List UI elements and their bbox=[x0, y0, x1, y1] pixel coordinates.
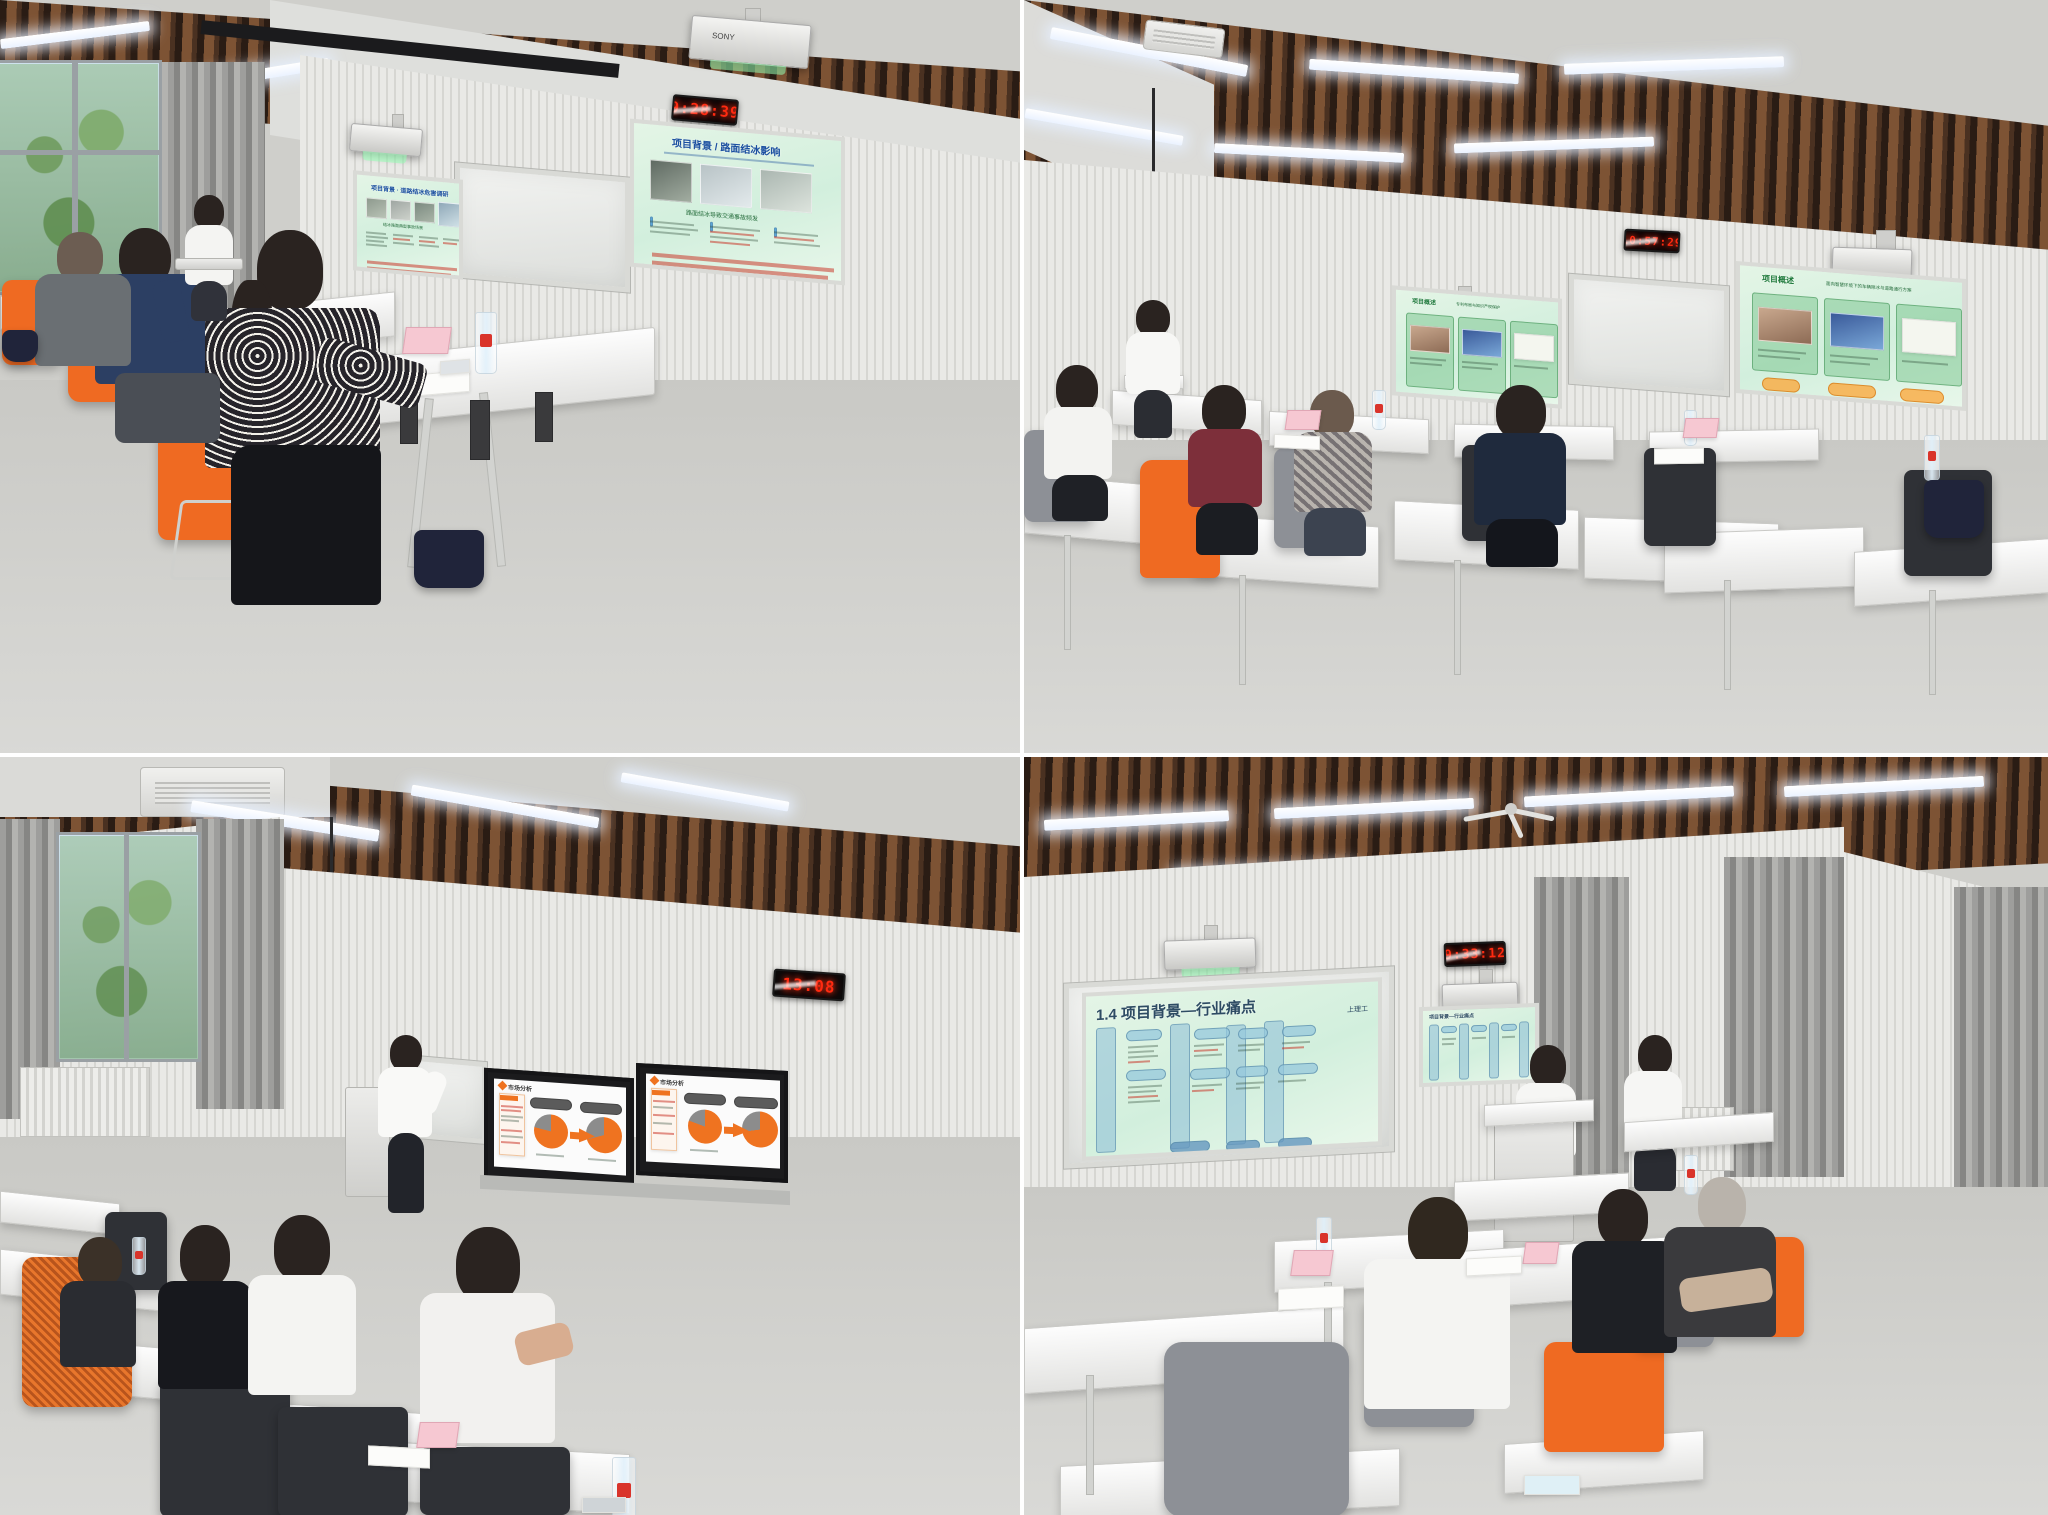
fan-blade bbox=[1463, 809, 1509, 822]
led-clock-br-text: 9:33:12 bbox=[1444, 945, 1506, 962]
paper-bl-1 bbox=[368, 1445, 430, 1468]
panel-bottom-right: 9:33:12 1.4 项目背景—行业痛点 上理工 bbox=[1024, 757, 2048, 1515]
person-torso bbox=[248, 1275, 356, 1395]
slide-pill-br-bottom-2 bbox=[1226, 1140, 1260, 1153]
slide-title-br-side: 项目背景—行业痛点 bbox=[1429, 1012, 1474, 1021]
name-card-br-2 bbox=[1522, 1242, 1559, 1264]
slide-text-line bbox=[1194, 1043, 1224, 1047]
person-legs bbox=[1052, 475, 1108, 521]
person-torso bbox=[60, 1281, 136, 1367]
podium-tl bbox=[175, 258, 243, 270]
person-head bbox=[390, 1035, 422, 1071]
slide-legend-line bbox=[690, 1149, 718, 1152]
led-clock-br: 9:33:12 bbox=[1444, 941, 1507, 967]
slide-text-line bbox=[443, 242, 457, 245]
whiteboard-tr bbox=[1569, 274, 1729, 397]
person-bl-1 bbox=[158, 1225, 254, 1425]
slide-pill-br-4 bbox=[1190, 1067, 1230, 1080]
slide-pill-br-5 bbox=[1238, 1027, 1268, 1040]
person-torso bbox=[1364, 1259, 1510, 1409]
led-clock-bl: 13:08 bbox=[772, 969, 846, 1002]
display-bl-left-slide: 市场分析 bbox=[494, 1078, 626, 1175]
slide-text-line bbox=[1194, 1054, 1222, 1057]
slide-pill-br-7 bbox=[1282, 1025, 1316, 1038]
slide-logo-br: 上理工 bbox=[1347, 1004, 1368, 1015]
slide-text-line bbox=[1282, 1046, 1304, 1049]
person-head bbox=[1202, 385, 1246, 435]
slide-pill-br-1 bbox=[1126, 1029, 1162, 1042]
person-torso bbox=[1474, 433, 1566, 525]
display-bezel-bl-right: 市场分析 bbox=[636, 1063, 788, 1183]
projector-br-1 bbox=[1164, 937, 1257, 970]
person-torso bbox=[420, 1293, 555, 1443]
person-legs bbox=[231, 445, 381, 605]
name-card-tr-2 bbox=[1683, 418, 1720, 438]
slide-text-line bbox=[1236, 1081, 1264, 1084]
name-card-tr-1 bbox=[1285, 410, 1322, 430]
slide-text-line bbox=[1238, 1043, 1264, 1046]
person-head bbox=[78, 1237, 122, 1287]
desk-leg-tr-2 bbox=[1239, 575, 1246, 685]
desk-leg-tr-4 bbox=[1724, 580, 1731, 690]
led-clock-tr-text: 10:57:29 bbox=[1623, 233, 1680, 249]
slide-cert-tr-l bbox=[1514, 333, 1554, 362]
phone-tl bbox=[440, 359, 470, 376]
person-torso bbox=[35, 274, 131, 366]
person-torso bbox=[1188, 429, 1262, 507]
person-head bbox=[1698, 1177, 1746, 1233]
slide-pill-side-1 bbox=[1441, 1026, 1457, 1034]
led-clock-bl-text: 13:08 bbox=[782, 974, 836, 997]
pie-chart-bl-l-1 bbox=[534, 1113, 568, 1149]
person-head bbox=[456, 1227, 520, 1303]
desk-bracket-tl-3 bbox=[535, 392, 553, 442]
screen-tl-right: 项目背景 / 路面结冰影响 路面结冰导致交通事故频发 bbox=[630, 119, 845, 286]
person-legs bbox=[115, 373, 220, 443]
projector-arm-tr-2 bbox=[1876, 230, 1896, 250]
person-bl-4 bbox=[60, 1237, 140, 1377]
slide-text-line bbox=[1128, 1085, 1162, 1089]
paper-tr-1 bbox=[1274, 434, 1320, 450]
person-tl-presenter bbox=[185, 195, 237, 315]
person-head bbox=[194, 195, 224, 229]
slide-text-line bbox=[1128, 1055, 1158, 1059]
slide-pill-br-2 bbox=[1126, 1068, 1166, 1081]
slide-pill-side-2 bbox=[1471, 1025, 1487, 1033]
slide-thumb-tr-r-2 bbox=[1830, 312, 1884, 350]
person-br-presenter-2 bbox=[1624, 1035, 1686, 1190]
person-tr-2 bbox=[1188, 385, 1270, 550]
slide-col-br-2 bbox=[1170, 1023, 1190, 1149]
slide-textbox-bl-left bbox=[499, 1093, 525, 1157]
slide-text-line bbox=[1128, 1060, 1150, 1063]
slide-col-br-1 bbox=[1096, 1027, 1116, 1153]
person-torso bbox=[1572, 1241, 1677, 1353]
water-bottle-tr-1 bbox=[1372, 390, 1386, 430]
person-legs bbox=[1134, 390, 1172, 438]
paper-tr-2 bbox=[1654, 448, 1704, 465]
person-head bbox=[1530, 1045, 1566, 1087]
person-legs bbox=[191, 281, 227, 321]
transition-arrow-head bbox=[733, 1123, 749, 1138]
paper-br-1 bbox=[1278, 1285, 1344, 1310]
person-head bbox=[180, 1225, 230, 1287]
person-head bbox=[1638, 1035, 1672, 1075]
desk-leg-tr-1 bbox=[1064, 535, 1071, 650]
slide-accent-bar bbox=[652, 1090, 670, 1096]
fan-hub bbox=[1505, 803, 1517, 815]
desk-leg-tr-3 bbox=[1454, 560, 1461, 675]
slide-text-line bbox=[1442, 1043, 1454, 1045]
bag-tr bbox=[1924, 480, 1984, 538]
person-head bbox=[1408, 1197, 1468, 1267]
screen-br-main: 1.4 项目背景—行业痛点 上理工 bbox=[1082, 977, 1382, 1161]
person-head bbox=[1598, 1189, 1648, 1247]
projector-brand-label-tl: SONY bbox=[712, 31, 735, 42]
led-clock-tl-text: 9:28:39 bbox=[671, 98, 739, 122]
slide-text-line bbox=[1128, 1050, 1154, 1053]
panel-top-left: 9:28:39 SONY 项目背景 · 道路结冰危害调研 结冰路面典型事故场景 bbox=[0, 0, 1024, 757]
slide-bullet-icon bbox=[498, 1081, 508, 1091]
slide-text-line bbox=[1442, 1038, 1456, 1040]
slide-pill-side-3 bbox=[1501, 1024, 1517, 1032]
window-mullion-h-tl bbox=[0, 150, 162, 155]
slide-text-line bbox=[1502, 1036, 1515, 1038]
screen-tr-right: 项目概述 面向智慧环境下的车辆除冰与道路通行方案 bbox=[1736, 261, 1966, 411]
water-bottle-tr-3 bbox=[1924, 435, 1940, 481]
person-br-3 bbox=[1664, 1177, 1784, 1377]
radiator-bl bbox=[20, 1067, 150, 1137]
slide-text-line bbox=[1236, 1087, 1260, 1090]
slide-sub-tl-right: 路面结冰导致交通事故频发 bbox=[686, 207, 758, 222]
slide-title-bl-left: 市场分析 bbox=[508, 1082, 532, 1093]
slide-chart-label-bl-r-1 bbox=[684, 1093, 726, 1106]
water-bottle-bl-2 bbox=[132, 1237, 146, 1275]
slide-pill-br-8 bbox=[1278, 1062, 1318, 1075]
curtain-br-3 bbox=[1954, 887, 2048, 1187]
window-mullion-bl bbox=[124, 832, 129, 1062]
slide-pill-br-6 bbox=[1236, 1065, 1268, 1078]
slide-text-line bbox=[443, 238, 460, 241]
chair-grey-br-1 bbox=[1164, 1342, 1349, 1515]
person-torso bbox=[1044, 407, 1112, 479]
person-tr-4 bbox=[1474, 385, 1570, 560]
slide-text-line bbox=[1282, 1041, 1310, 1044]
person-torso bbox=[1126, 332, 1180, 394]
water-bottle-br-2 bbox=[1684, 1155, 1698, 1195]
slide-title-tr-right: 项目概述 bbox=[1762, 273, 1794, 287]
display-bezel-bl-left: 市场分析 bbox=[484, 1068, 634, 1190]
slide-thumb-tl-r-3 bbox=[760, 169, 812, 214]
slide-text-line bbox=[1194, 1049, 1218, 1052]
person-legs bbox=[1196, 503, 1258, 555]
paper-bl-2 bbox=[582, 1497, 626, 1513]
slide-bullet-icon bbox=[650, 1076, 660, 1086]
slide-col-side-1 bbox=[1429, 1024, 1439, 1080]
slide-badge-tr-1 bbox=[1762, 377, 1800, 393]
slide-chart-label-bl-l-2 bbox=[580, 1101, 622, 1115]
person-legs bbox=[1304, 508, 1366, 556]
ceiling-fan-br bbox=[1464, 797, 1554, 823]
pie-chart-bl-r-1 bbox=[688, 1109, 722, 1145]
slide-pill-br-3 bbox=[1194, 1027, 1230, 1040]
person-bl-2 bbox=[248, 1215, 358, 1430]
person-head bbox=[1496, 385, 1546, 439]
slide-thumb-tl-l-1 bbox=[366, 197, 387, 219]
name-card-br-1 bbox=[1290, 1250, 1334, 1276]
slide-text-line bbox=[710, 241, 750, 246]
slide-title-tl-left: 项目背景 · 道路结冰危害调研 bbox=[371, 183, 448, 199]
transition-arrow-head bbox=[579, 1128, 595, 1143]
led-clock-tr: 10:57:29 bbox=[1623, 229, 1680, 254]
slide-sub-tr-right: 面向智慧环境下的车辆除冰与道路通行方案 bbox=[1826, 281, 1912, 294]
person-br-1 bbox=[1364, 1197, 1514, 1447]
paper-br-3 bbox=[1524, 1475, 1580, 1495]
person-tr-presenter bbox=[1124, 300, 1184, 430]
curtain-bl-2 bbox=[196, 819, 284, 1109]
slide-thumb-tl-r-2 bbox=[700, 164, 752, 209]
slide-text-line bbox=[1128, 1095, 1158, 1099]
panel-top-right: 10:57:29 项目概述 专利布局与知识产权保护 项目概述 面向智慧环境下的车… bbox=[1024, 0, 2048, 757]
name-card-bl bbox=[416, 1422, 460, 1448]
slide-text-line bbox=[650, 230, 690, 235]
slide-badge-tr-2 bbox=[1828, 382, 1876, 399]
backpack-tl bbox=[414, 530, 484, 588]
slide-text-line bbox=[1238, 1049, 1260, 1052]
slide-text-line bbox=[774, 241, 820, 247]
slide-title-tr-left: 项目概述 bbox=[1412, 296, 1436, 307]
desk-leg-tr-5 bbox=[1929, 590, 1936, 695]
slide-text-line bbox=[1128, 1045, 1158, 1049]
slide-col-side-3 bbox=[1489, 1022, 1499, 1078]
bag-tl-2 bbox=[2, 330, 38, 362]
person-head bbox=[1136, 300, 1170, 336]
person-bl-presenter bbox=[378, 1035, 438, 1220]
photo-collage: 9:28:39 SONY 项目背景 · 道路结冰危害调研 结冰路面典型事故场景 bbox=[0, 0, 2048, 1515]
person-torso bbox=[185, 225, 233, 285]
slide-text-line bbox=[1128, 1100, 1160, 1104]
slide-thumb-tr-r-1 bbox=[1758, 307, 1812, 345]
slide-cert-tr-r bbox=[1902, 318, 1956, 356]
ceiling-light-tr-3 bbox=[1564, 56, 1784, 75]
desk-bracket-tl-2 bbox=[470, 400, 490, 460]
person-head bbox=[274, 1215, 330, 1281]
slide-pill-br-bottom-3 bbox=[1278, 1137, 1312, 1150]
person-torso bbox=[158, 1281, 252, 1389]
whiteboard-tl bbox=[455, 162, 630, 292]
slide-thumb-tl-l-2 bbox=[390, 199, 411, 221]
slide-text-line bbox=[1278, 1079, 1306, 1082]
slide-title-bl-right: 市场分析 bbox=[660, 1077, 684, 1087]
slide-chart-label-bl-l-1 bbox=[530, 1097, 572, 1111]
slide-legend-line bbox=[536, 1153, 564, 1157]
slide-textbox-bl-right bbox=[651, 1088, 677, 1151]
slide-badge-tr-3 bbox=[1900, 388, 1944, 404]
slide-text-line bbox=[1128, 1090, 1156, 1093]
person-tr-1 bbox=[1044, 365, 1119, 515]
slide-thumb-tl-l-4 bbox=[438, 202, 460, 228]
slide-legend-line bbox=[588, 1158, 616, 1162]
slide-sub-tr-left: 专利布局与知识产权保护 bbox=[1456, 301, 1500, 310]
water-bottle-tl bbox=[475, 312, 497, 374]
slide-text-line bbox=[1472, 1037, 1486, 1039]
slide-title-br-main: 1.4 项目背景—行业痛点 bbox=[1096, 996, 1256, 1025]
slide-thumb-tl-l-3 bbox=[414, 202, 435, 224]
slide-text-line bbox=[1192, 1084, 1222, 1088]
slide-thumb-tr-l-2 bbox=[1462, 329, 1502, 358]
panel-bottom-left: 13:08 市场分析 bbox=[0, 757, 1024, 1515]
slide-thumb-tl-r-1 bbox=[650, 159, 692, 203]
slide-pill-br-bottom-1 bbox=[1170, 1140, 1210, 1153]
slide-thumb-tr-l-1 bbox=[1410, 325, 1450, 354]
ceiling-light-bl-3 bbox=[620, 772, 789, 811]
person-head bbox=[1056, 365, 1098, 413]
desk-leg-br-1 bbox=[1086, 1375, 1094, 1495]
slide-chart-label-bl-r-2 bbox=[734, 1096, 778, 1109]
slide-text-line bbox=[1192, 1089, 1214, 1092]
paper-br-2 bbox=[1466, 1256, 1522, 1277]
person-legs bbox=[1486, 519, 1558, 567]
person-legs bbox=[388, 1133, 424, 1213]
display-bl-right-slide: 市场分析 bbox=[646, 1074, 780, 1169]
person-tl-grey-shirt bbox=[35, 232, 145, 372]
slide-col-side-2 bbox=[1459, 1023, 1469, 1079]
